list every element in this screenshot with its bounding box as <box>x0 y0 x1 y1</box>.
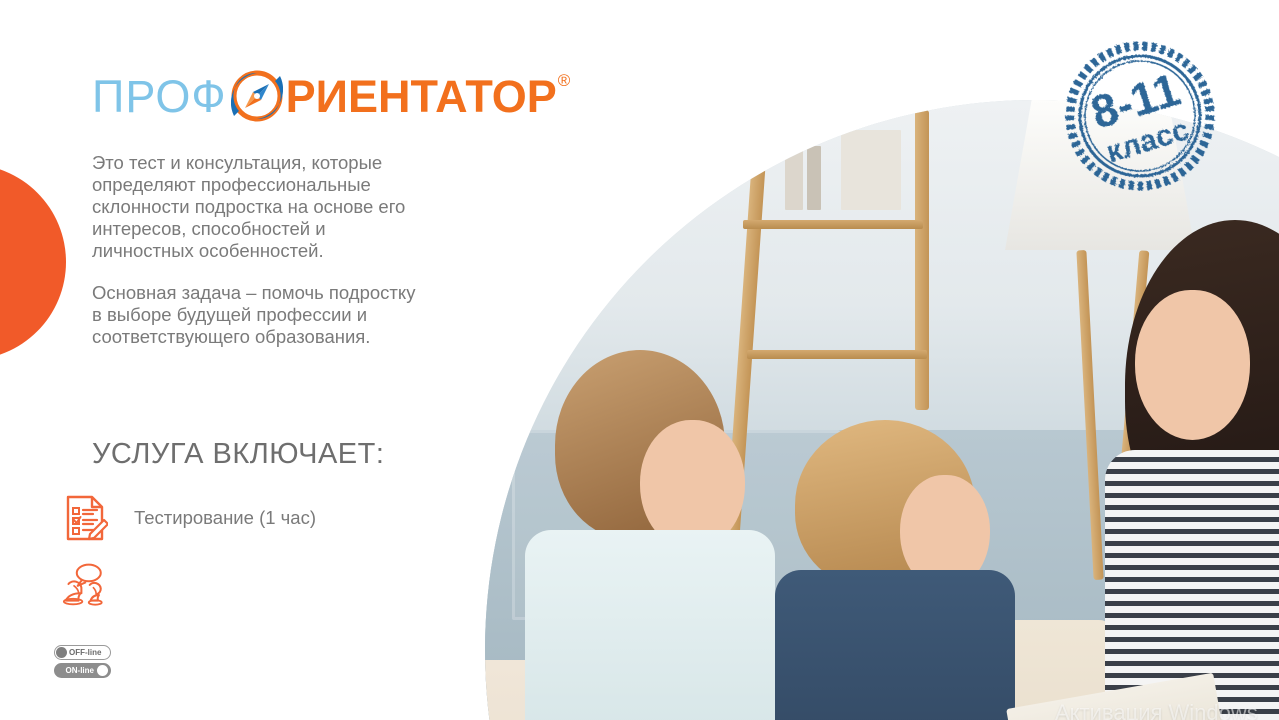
orange-decorative-circle <box>0 164 66 360</box>
online-toggle[interactable]: ON-line <box>54 663 111 678</box>
intro-paragraph-2: Основная задача – помочь подростку в выб… <box>92 282 422 348</box>
consultation-speech-bubble-icon <box>62 558 110 610</box>
face <box>1135 290 1250 440</box>
service-item-testing[interactable]: Тестирование (1 час) <box>62 490 462 546</box>
shelf-book <box>841 130 901 210</box>
services-list: Тестирование (1 час) <box>62 490 462 622</box>
shelf-ladder-rail <box>915 110 929 410</box>
offline-toggle-label: OFF-line <box>69 648 101 657</box>
toggle-knob <box>56 647 67 658</box>
presentation-slide: ПРОФ РИЕНТАТОР ® Это тест и консультация… <box>0 0 1279 720</box>
registered-trademark-icon: ® <box>558 72 571 89</box>
intro-paragraph-1: Это тест и консультация, которые определ… <box>92 152 422 262</box>
delivery-mode-toggles: OFF-line ON-line <box>54 645 111 681</box>
intro-copy: Это тест и консультация, которые определ… <box>92 152 422 348</box>
service-item-label: Тестирование (1 час) <box>134 507 316 529</box>
shelf-book <box>785 140 803 210</box>
logo-text-prof: ПРОФ <box>92 74 227 119</box>
logo-text-rientator: РИЕНТАТОР <box>286 74 557 119</box>
offline-toggle[interactable]: OFF-line <box>54 645 111 660</box>
torso-denim-shirt <box>775 570 1015 720</box>
toggle-knob <box>97 665 108 676</box>
service-item-consultation[interactable] <box>62 556 462 612</box>
services-heading: УСЛУГА ВКЛЮЧАЕТ: <box>92 438 384 471</box>
online-toggle-label: ON-line <box>66 666 94 675</box>
compass-icon <box>231 70 283 122</box>
test-document-pencil-icon <box>62 492 110 544</box>
shelf-ladder-rung <box>747 350 927 359</box>
shelf-ladder-rung <box>743 220 923 229</box>
grade-stamp-badge: 8-11 класс <box>1050 26 1231 207</box>
windows-activation-watermark: Активация Windows <box>1055 700 1258 720</box>
torso <box>525 530 775 720</box>
brand-logo[interactable]: ПРОФ РИЕНТАТОР ® <box>92 68 570 124</box>
shelf-book <box>807 146 821 210</box>
